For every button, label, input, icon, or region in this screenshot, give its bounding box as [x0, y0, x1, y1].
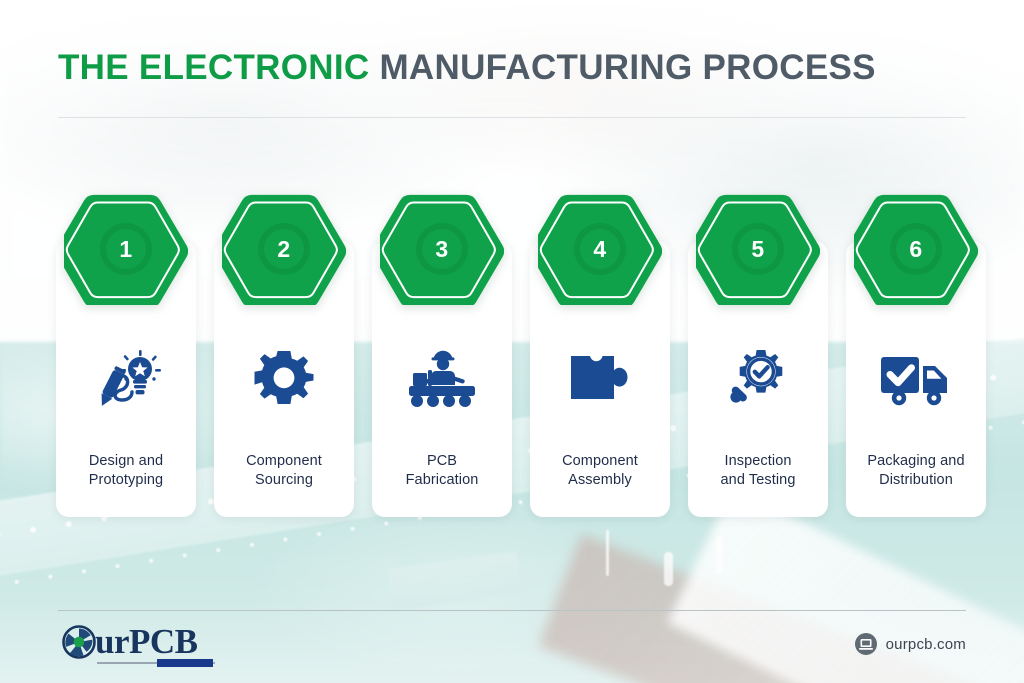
- footer-divider: [58, 610, 966, 611]
- step-card-1-label: Design and Prototyping: [55, 452, 197, 491]
- process-steps-row: Design and Prototyping Component Sourcin…: [0, 193, 1024, 528]
- step-badge-6-number: 6: [854, 193, 978, 305]
- step-card-5-label: Inspection and Testing: [687, 452, 829, 491]
- pencil-lightbulb-icon: [91, 348, 161, 410]
- gear-icon: [253, 348, 315, 410]
- step-card-6-label-line2: Distribution: [845, 471, 987, 491]
- aperture-swirl-icon: [60, 622, 98, 660]
- step-card-4-label-line2: Assembly: [529, 471, 671, 491]
- ourpcb-logo[interactable]: urPCB: [60, 622, 198, 660]
- ourpcb-logo-text: urPCB: [95, 624, 198, 659]
- step-badge-1-number: 1: [64, 193, 188, 305]
- worker-conveyor-icon: [405, 348, 479, 410]
- step-badge-1[interactable]: 1: [64, 193, 188, 305]
- step-badge-2[interactable]: 2: [222, 193, 346, 305]
- step-card-2-label: Component Sourcing: [213, 452, 355, 491]
- step-card-1-label-line1: Design and: [55, 452, 197, 472]
- website-label: ourpcb.com: [886, 636, 966, 653]
- header: THE ELECTRONIC MANUFACTURING PROCESS: [58, 50, 966, 87]
- step-badge-5-number: 5: [696, 193, 820, 305]
- delivery-truck-check-icon: [879, 348, 953, 410]
- step-card-1-content: Design and Prototyping: [56, 348, 196, 491]
- puzzle-piece-icon: [567, 348, 633, 410]
- step-card-4-label-line1: Component: [529, 452, 671, 472]
- step-card-6-label-line1: Packaging and: [845, 452, 987, 472]
- step-card-1-label-line2: Prototyping: [55, 471, 197, 491]
- step-card-4-content: Component Assembly: [530, 348, 670, 491]
- step-card-2-label-line2: Sourcing: [213, 471, 355, 491]
- ourpcb-logo-letters: urPCB: [95, 622, 198, 661]
- step-badge-3[interactable]: 3: [380, 193, 504, 305]
- step-card-6-label: Packaging and Distribution: [845, 452, 987, 491]
- step-card-3-content: PCB Fabrication: [372, 348, 512, 491]
- step-card-5-content: Inspection and Testing: [688, 348, 828, 491]
- step-badge-5[interactable]: 5: [696, 193, 820, 305]
- step-card-2-content: Component Sourcing: [214, 348, 354, 491]
- step-badge-6[interactable]: 6: [854, 193, 978, 305]
- step-card-2-label-line1: Component: [213, 452, 355, 472]
- page-title-green-part: THE ELECTRONIC: [58, 48, 369, 87]
- header-divider: [58, 117, 966, 118]
- step-badge-4[interactable]: 4: [538, 193, 662, 305]
- step-card-4-label: Component Assembly: [529, 452, 671, 491]
- magnifier-gear-check-icon: [725, 348, 791, 410]
- website-link[interactable]: ourpcb.com: [855, 633, 966, 655]
- step-card-3-label-line2: Fabrication: [371, 471, 513, 491]
- step-badge-2-number: 2: [222, 193, 346, 305]
- step-badge-3-number: 3: [380, 193, 504, 305]
- ourpcb-logo-bluebar: [157, 659, 213, 667]
- page-title-gray-text: MANUFACTURING PROCESS: [379, 48, 875, 87]
- step-badge-4-number: 4: [538, 193, 662, 305]
- infographic-root: THE ELECTRONIC MANUFACTURING PROCESS: [0, 0, 1024, 683]
- step-card-6-content: Packaging and Distribution: [846, 348, 986, 491]
- step-card-3-label: PCB Fabrication: [371, 452, 513, 491]
- step-card-5-label-line2: and Testing: [687, 471, 829, 491]
- page-title-gray-part: [369, 48, 379, 87]
- step-card-5-label-line1: Inspection: [687, 452, 829, 472]
- monitor-icon: [855, 633, 877, 655]
- step-card-3-label-line1: PCB: [371, 452, 513, 472]
- page-title: THE ELECTRONIC MANUFACTURING PROCESS: [58, 50, 966, 87]
